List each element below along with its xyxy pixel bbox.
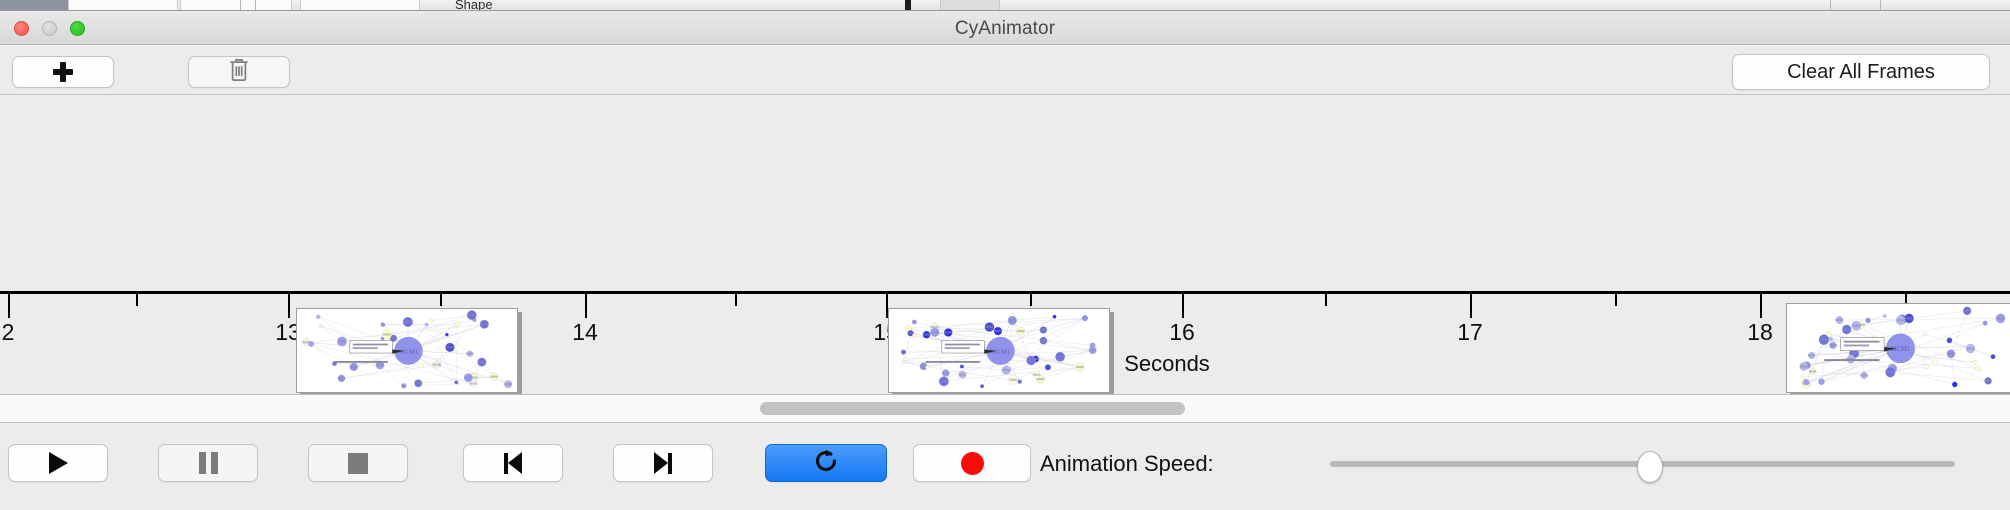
- timeline-frame-thumbnail[interactable]: MCM1: [296, 308, 518, 393]
- tick-label-16: 16: [1169, 319, 1195, 346]
- tick-minor-2: [735, 294, 737, 306]
- bg-toolbar-segment: [68, 0, 178, 11]
- bg-divider: [255, 0, 256, 11]
- trash-icon: [228, 58, 250, 87]
- bg-divider: [1880, 0, 1881, 11]
- cyanimator-window: CyAnimator Clear All Frames 213141516171…: [0, 11, 2010, 510]
- tick-label-14: 14: [572, 319, 598, 346]
- timeline-axis-title: Seconds: [1124, 351, 1210, 377]
- tick-major-12: [8, 294, 10, 318]
- add-frame-button[interactable]: [12, 56, 114, 88]
- timeline-frame-thumbnail[interactable]: MCM1: [1786, 303, 2010, 393]
- playback-controls: Animation Speed:: [0, 423, 2010, 508]
- tick-major-14: [585, 294, 587, 318]
- timeline-scrollbar[interactable]: [0, 395, 2010, 423]
- timeline-panel[interactable]: 2131415161718 MCM1 MCM1 MCM1 Second: [0, 95, 2010, 395]
- pause-icon: [199, 452, 218, 474]
- clear-all-frames-button[interactable]: Clear All Frames: [1732, 54, 1990, 90]
- tick-label-18: 18: [1747, 319, 1773, 346]
- frame-toolbar: Clear All Frames: [0, 45, 2010, 95]
- stop-icon: [348, 453, 368, 474]
- skip-back-icon: [504, 452, 522, 474]
- play-icon: [49, 452, 68, 474]
- bg-divider: [240, 0, 241, 11]
- pause-button[interactable]: [158, 444, 258, 482]
- clear-all-frames-label: Clear All Frames: [1787, 61, 1935, 84]
- tick-major-16: [1182, 294, 1184, 318]
- loop-icon: [813, 448, 839, 479]
- bg-toolbar-segment: [300, 0, 420, 11]
- bg-cursor-mark: [905, 0, 911, 11]
- play-button[interactable]: [8, 444, 108, 482]
- bg-sidebar-block: [0, 0, 68, 11]
- delete-frame-button[interactable]: [188, 56, 290, 88]
- svg-text:MCM1: MCM1: [991, 348, 1010, 355]
- window-title: CyAnimator: [0, 18, 2010, 40]
- bg-divider: [1830, 0, 1831, 11]
- bg-app-label: Shape: [455, 0, 493, 11]
- tick-label-12: 2: [2, 319, 15, 346]
- timeline-axis: [0, 291, 2010, 294]
- tick-major-13: [288, 294, 290, 318]
- bg-toolbar-segment: [180, 0, 292, 11]
- tick-major-17: [1470, 294, 1472, 318]
- previous-frame-button[interactable]: [463, 444, 563, 482]
- record-icon: [961, 452, 984, 475]
- tick-minor-1: [440, 294, 442, 306]
- window-titlebar: CyAnimator: [0, 11, 2010, 45]
- record-button[interactable]: [913, 444, 1031, 482]
- stop-button[interactable]: [308, 444, 408, 482]
- next-frame-button[interactable]: [613, 444, 713, 482]
- tick-minor-4: [1325, 294, 1327, 306]
- animation-speed-label: Animation Speed:: [1040, 451, 1214, 477]
- svg-text:MCM1: MCM1: [1891, 346, 1911, 353]
- tick-minor-0: [136, 294, 138, 306]
- tick-minor-3: [1030, 294, 1032, 306]
- bg-toolbar-segment: [940, 0, 1000, 11]
- tick-major-18: [1760, 294, 1762, 318]
- animation-speed-slider-thumb[interactable]: [1637, 451, 1663, 483]
- tick-minor-5: [1615, 294, 1617, 306]
- skip-forward-icon: [654, 452, 672, 474]
- svg-text:MCM1: MCM1: [399, 348, 418, 355]
- loop-button[interactable]: [765, 444, 887, 482]
- plus-icon: [53, 62, 73, 82]
- background-application-strip: Shape: [0, 0, 2010, 11]
- timeline-scrollbar-thumb[interactable]: [760, 402, 1185, 415]
- timeline-frame-thumbnail[interactable]: MCM1: [888, 308, 1110, 393]
- tick-label-17: 17: [1457, 319, 1483, 346]
